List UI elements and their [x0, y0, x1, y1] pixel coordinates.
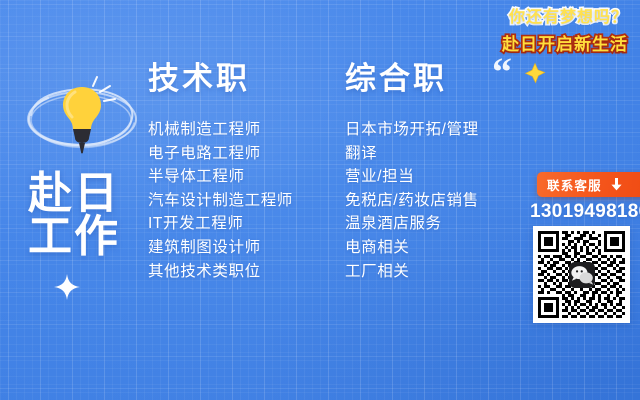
- list-item[interactable]: 温泉酒店服务: [345, 212, 479, 236]
- list-item[interactable]: 建筑制图设计师: [148, 236, 293, 260]
- qr-code[interactable]: [533, 226, 630, 323]
- job-column-general: 综合职 日本市场开拓/管理 翻译 营业/担当 免税店/药妆店销售 温泉酒店服务 …: [345, 62, 479, 283]
- list-item[interactable]: 机械制造工程师: [148, 118, 293, 142]
- list-item[interactable]: 营业/担当: [345, 165, 479, 189]
- quote-mark-icon: “: [492, 52, 512, 92]
- sparkle-icon: [52, 272, 82, 302]
- column-heading-general: 综合职: [345, 62, 479, 96]
- job-list-general: 日本市场开拓/管理 翻译 营业/担当 免税店/药妆店销售 温泉酒店服务 电商相关…: [345, 118, 479, 283]
- phone-number[interactable]: 13019498186: [530, 201, 638, 223]
- star-icon: [524, 62, 546, 84]
- arrow-down-icon: [610, 177, 623, 192]
- list-item[interactable]: 电子电路工程师: [148, 142, 293, 166]
- list-item[interactable]: 日本市场开拓/管理: [345, 118, 479, 142]
- headline-line-1: 你还有梦想吗？: [502, 6, 628, 30]
- promo-banner: JOIN US 你还有梦想吗？ 赴日开启新生活 “: [0, 0, 640, 400]
- job-column-tech: 技术职 机械制造工程师 电子电路工程师 半导体工程师 汽车设计制造工程师 IT开…: [148, 62, 293, 283]
- list-item[interactable]: 汽车设计制造工程师: [148, 189, 293, 213]
- column-heading-tech: 技术职: [148, 62, 293, 96]
- emblem-title-line-1: 赴日: [28, 172, 148, 215]
- list-item[interactable]: 翻译: [345, 142, 479, 166]
- qr-code-canvas: [538, 231, 625, 318]
- emblem-block: 赴日 工作: [18, 70, 148, 258]
- wechat-logo-icon: [569, 262, 595, 288]
- list-item[interactable]: 工厂相关: [345, 260, 479, 284]
- contact-support-button[interactable]: 联系客服: [537, 172, 640, 197]
- headline-block: 你还有梦想吗？ 赴日开启新生活: [502, 6, 628, 58]
- list-item[interactable]: IT开发工程师: [148, 212, 293, 236]
- job-list-tech: 机械制造工程师 电子电路工程师 半导体工程师 汽车设计制造工程师 IT开发工程师…: [148, 118, 293, 283]
- lightbulb-icon: [18, 70, 146, 166]
- emblem-title-line-2: 工作: [28, 215, 148, 258]
- contact-support-label: 联系客服: [547, 175, 602, 194]
- list-item[interactable]: 免税店/药妆店销售: [345, 189, 479, 213]
- headline-line-2: 赴日开启新生活: [502, 32, 628, 58]
- emblem-title: 赴日 工作: [18, 172, 148, 258]
- list-item[interactable]: 电商相关: [345, 236, 479, 260]
- list-item[interactable]: 半导体工程师: [148, 165, 293, 189]
- list-item[interactable]: 其他技术类职位: [148, 260, 293, 284]
